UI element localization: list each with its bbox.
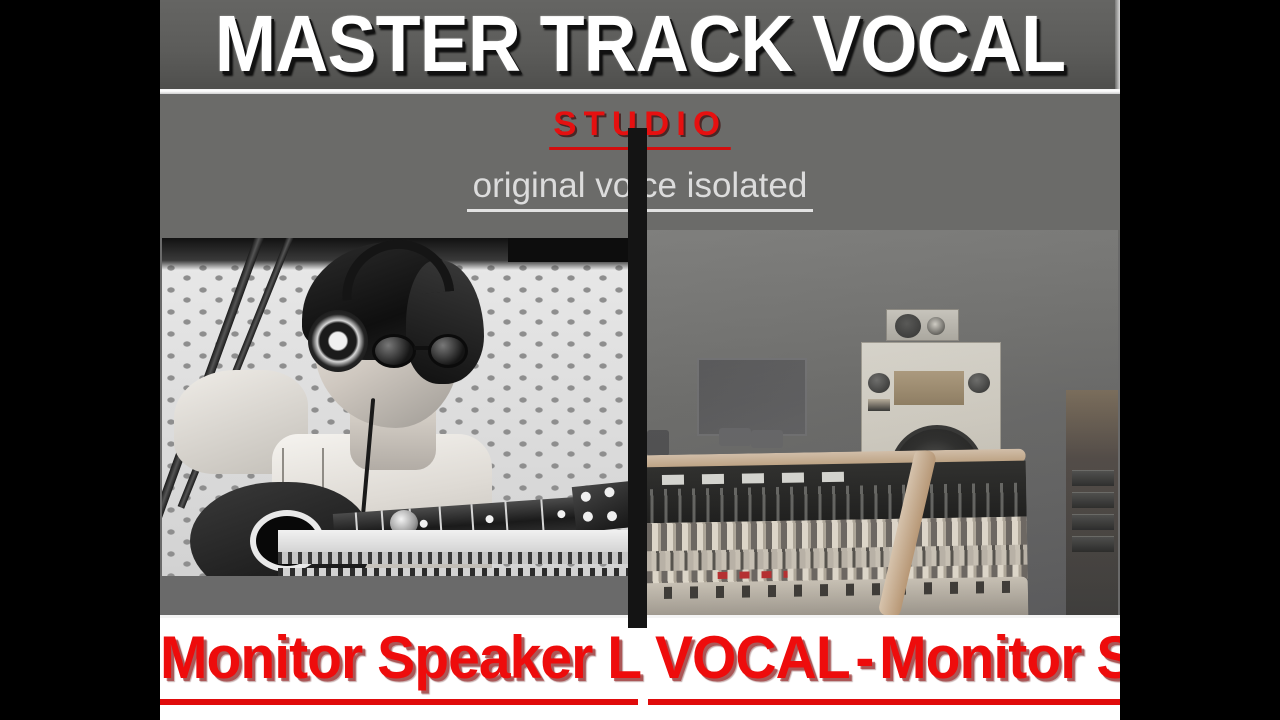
title-band: MASTER TRACK VOCAL xyxy=(160,0,1120,92)
title-divider-rule xyxy=(160,89,1120,94)
corner-shadow xyxy=(508,238,628,262)
studio-cabinet xyxy=(647,430,669,456)
sunglasses-lens-left xyxy=(372,334,416,368)
page-title: MASTER TRACK VOCAL xyxy=(198,0,1081,90)
letterbox-bar-left xyxy=(0,0,160,720)
caption-separator: - xyxy=(850,619,879,697)
mixing-console-left xyxy=(278,530,628,576)
control-room-photo xyxy=(647,230,1118,616)
caption-text-row: Monitor Speaker L VOCAL-Monitor Speaker … xyxy=(160,619,1072,697)
caption-underline-right xyxy=(648,699,1120,705)
mixing-console-right xyxy=(647,449,1028,616)
caption-band: Monitor Speaker L VOCAL-Monitor Speaker … xyxy=(160,615,1120,720)
video-frame: MASTER TRACK VOCAL STUDIO original voice… xyxy=(0,0,1280,720)
studio-chair-2 xyxy=(751,430,783,448)
equipment-rack xyxy=(1066,390,1118,616)
panel-divider xyxy=(628,128,647,628)
caption-left-channel: Monitor Speaker L VOCAL xyxy=(160,619,850,697)
sunglasses-icon xyxy=(372,334,486,368)
studio-live-room-photo xyxy=(162,238,628,576)
photo-area xyxy=(160,238,1120,615)
studio-chair-1 xyxy=(719,428,751,446)
control-room-window xyxy=(697,358,807,436)
sunglasses-lens-right xyxy=(428,334,468,368)
caption-right-channel: Monitor Speaker R INSTRU xyxy=(879,619,1120,697)
headphone-earcup-icon xyxy=(308,310,368,372)
video-content-area: MASTER TRACK VOCAL STUDIO original voice… xyxy=(160,0,1120,720)
guitar-headstock xyxy=(572,481,628,533)
letterbox-bar-right xyxy=(1120,0,1280,720)
tweeter-speaker xyxy=(886,309,959,341)
caption-underline-left xyxy=(160,699,638,705)
